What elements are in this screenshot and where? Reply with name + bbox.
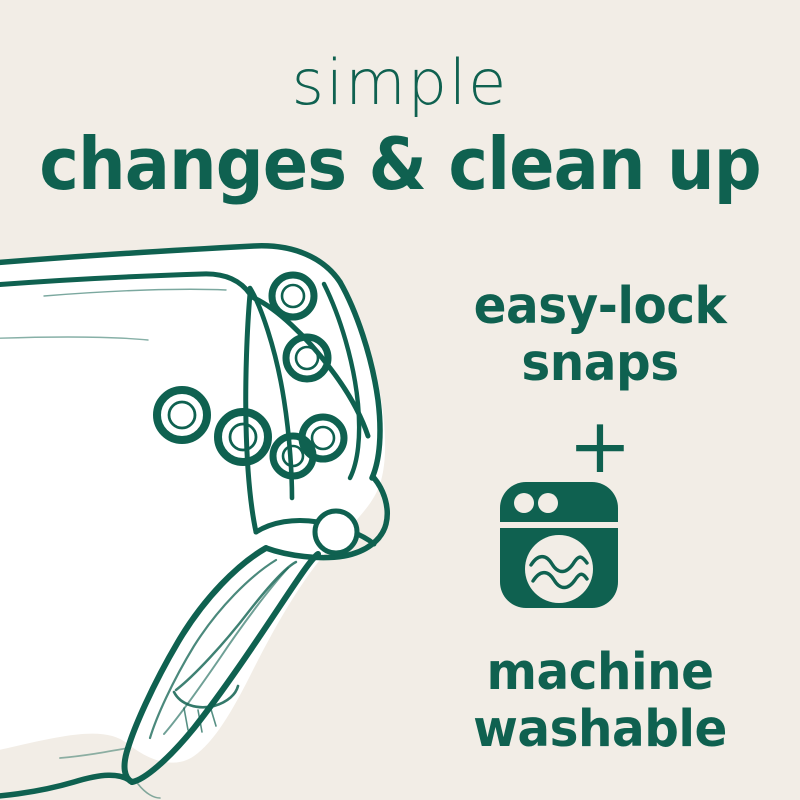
page-title: changes & clean up	[28, 128, 772, 200]
feature-washable-line-2: washable	[410, 701, 790, 758]
feature-washable-label: machine washable	[410, 644, 790, 758]
washer-knob-2	[538, 493, 558, 513]
cloth-diaper-illustration	[0, 232, 408, 800]
washer-knob-1	[514, 493, 534, 513]
feature-washable-line-1: machine	[410, 644, 790, 701]
washer-drum	[525, 535, 593, 603]
feature-snaps-line-1: easy-lock	[410, 278, 790, 335]
plus-separator: +	[400, 408, 800, 484]
headline-kicker: simple	[0, 52, 800, 114]
feature-snaps-line-2: snaps	[410, 335, 790, 392]
feature-snaps-label: easy-lock snaps	[410, 278, 790, 392]
poster-canvas: simple changes & clean up	[0, 0, 800, 800]
washing-machine-icon	[498, 480, 620, 610]
